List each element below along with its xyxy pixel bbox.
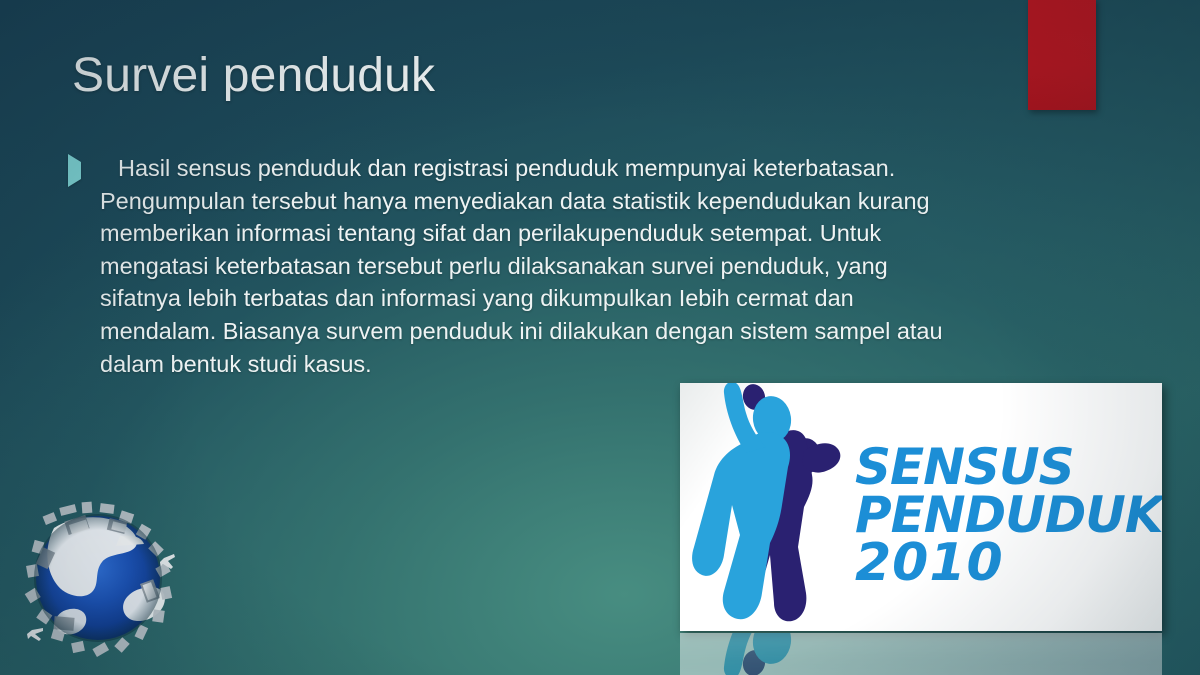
logo-line-penduduk: PENDUDUK <box>855 491 1162 539</box>
slide-title: Survei penduduk <box>72 48 435 103</box>
logo-wordmark: SENSUS PENDUDUK 2010 <box>855 443 1162 589</box>
triangle-bullet-icon <box>68 162 84 178</box>
logo-reflection: SENSUS PENDUDUK 2010 <box>680 633 1162 675</box>
body-paragraph: Hasil sensus penduduk dan registrasi pen… <box>100 152 948 380</box>
logo-line-year: 2010 <box>855 539 1162 589</box>
two-people-figures-icon <box>686 383 876 631</box>
globe-cities-graphic <box>14 492 182 660</box>
sensus-penduduk-2010-logo: SENSUS PENDUDUK 2010 <box>680 383 1162 631</box>
logo-inner: SENSUS PENDUDUK 2010 <box>680 383 1162 631</box>
presentation-slide: Survei penduduk Hasil sensus penduduk da… <box>0 0 1200 675</box>
accent-bar <box>1028 0 1096 110</box>
logo-line-sensus: SENSUS <box>855 443 1162 491</box>
body-bullet-block: Hasil sensus penduduk dan registrasi pen… <box>68 152 948 380</box>
logo-reflection-mirror: SENSUS PENDUDUK 2010 <box>680 633 1162 675</box>
